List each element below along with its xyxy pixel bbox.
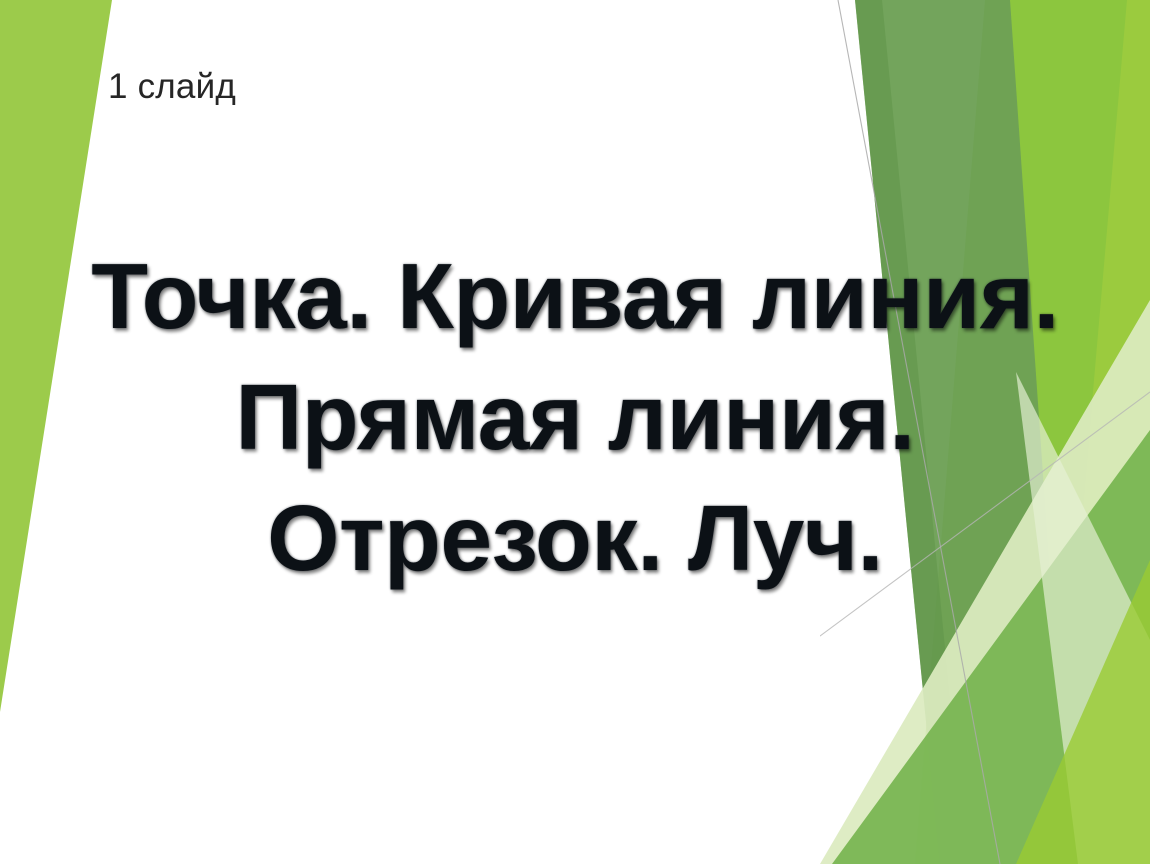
presentation-slide: 1 слайд Точка. Кривая линия. Прямая лини… [0, 0, 1150, 864]
slide-number-label: 1 слайд [108, 68, 236, 107]
slide-title: Точка. Кривая линия. Прямая линия. Отрез… [0, 236, 1150, 599]
title-line-1: Точка. Кривая линия. [14, 236, 1136, 357]
title-line-3: Отрезок. Луч. [14, 478, 1136, 599]
bright-accent-wedge [1016, 560, 1150, 864]
title-line-2: Прямая линия. [14, 357, 1136, 478]
